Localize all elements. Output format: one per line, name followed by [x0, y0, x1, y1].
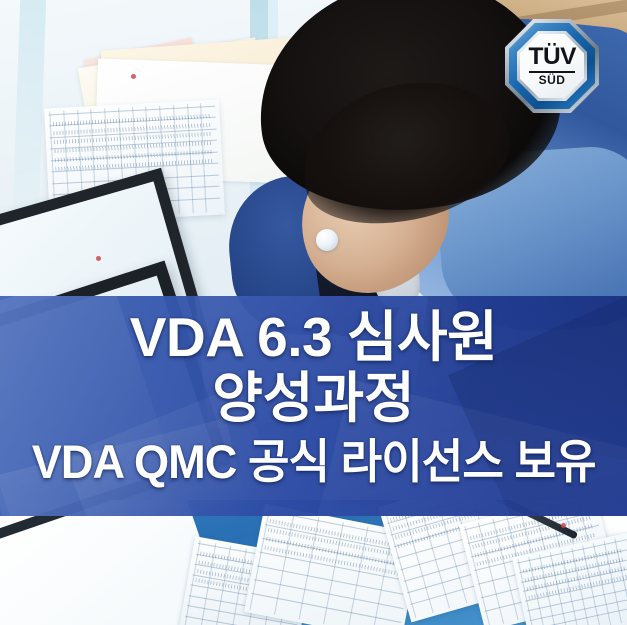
text-overlay-band: VDA 6.3 심사원 양성과정 VDA QMC 공식 라이선스 보유 — [0, 296, 627, 516]
headline-line-3: VDA QMC 공식 라이선스 보유 — [32, 438, 596, 485]
glass-sphere — [316, 229, 338, 251]
logo-main-text: TÜV — [528, 45, 575, 69]
headline-line-2: 양성과정 — [212, 371, 414, 426]
red-annotation-mark — [96, 256, 101, 261]
paper-column-line — [187, 104, 194, 213]
red-annotation-mark — [131, 74, 136, 79]
paper-column-line — [173, 105, 180, 214]
red-annotation-mark — [561, 523, 566, 528]
tuv-sud-logo: TÜV SÜD — [505, 19, 599, 113]
promo-banner: VDA 6.3 심사원 양성과정 VDA QMC 공식 라이선스 보유 TÜV … — [0, 0, 627, 625]
headline-block: VDA 6.3 심사원 양성과정 VDA QMC 공식 라이선스 보유 — [0, 296, 627, 516]
headline-line-1: VDA 6.3 심사원 — [130, 310, 497, 365]
logo-sub-text: SÜD — [539, 74, 566, 86]
lower-photo — [0, 500, 627, 625]
